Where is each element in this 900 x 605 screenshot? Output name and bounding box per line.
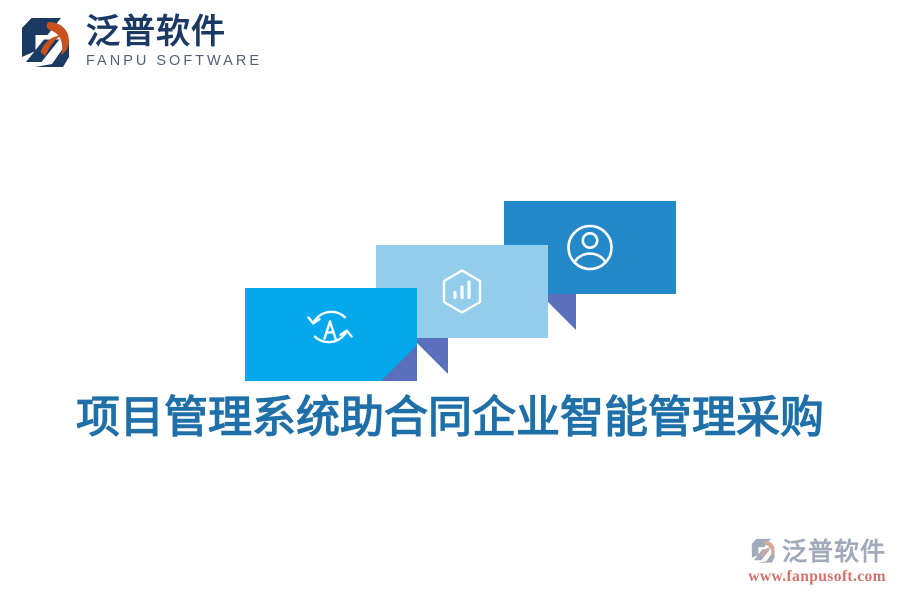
brand-logo: 泛普软件 FANPU SOFTWARE [14, 12, 262, 74]
refresh-letter-a-icon [309, 312, 352, 342]
watermark-url: www.fanpusoft.com [748, 568, 886, 586]
brand-name-en: FANPU SOFTWARE [86, 51, 262, 73]
card-user [504, 201, 676, 330]
user-avatar-circle-icon [569, 226, 612, 269]
card-automation [245, 288, 417, 381]
card-cluster [0, 0, 900, 600]
brand-name-cn: 泛普软件 [86, 15, 262, 50]
fanpu-watermark-logo-icon [748, 536, 778, 566]
card-analytics [376, 245, 548, 374]
watermark: 泛普软件 www.fanpusoft.com [748, 536, 886, 586]
fanpu-hexagon-logo-icon [14, 12, 76, 74]
page-title: 项目管理系统助合同企业智能管理采购 [0, 392, 900, 444]
hexagon-bar-chart-icon [444, 271, 480, 313]
watermark-name: 泛普软件 [782, 539, 886, 564]
